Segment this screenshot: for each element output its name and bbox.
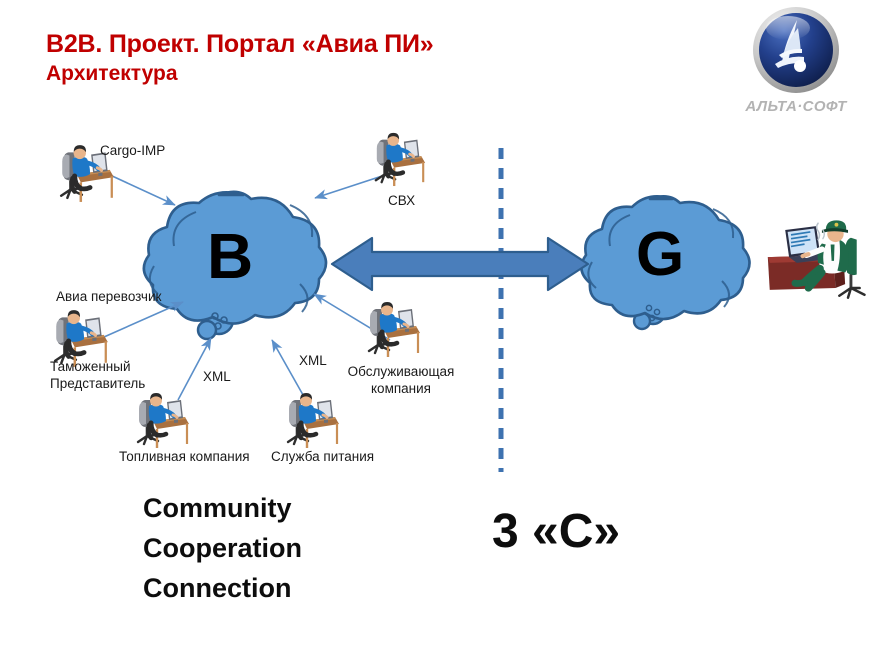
actor-customs-officer-icon bbox=[768, 220, 865, 297]
actor-sluzhba-icon bbox=[288, 393, 339, 448]
ccc-line-connection: Connection bbox=[143, 568, 302, 608]
label-obsluzh-line1: Обслуживающая bbox=[340, 363, 462, 380]
ccc-line-community: Community bbox=[143, 488, 302, 528]
label-xml-right: XML bbox=[299, 352, 327, 369]
double-headed-arrow bbox=[332, 238, 588, 290]
actor-toplivnaya-icon bbox=[138, 393, 189, 448]
label-cvh: СВХ bbox=[388, 192, 415, 209]
label-sluzhba-pitaniya: Служба питания bbox=[271, 448, 374, 465]
label-obsluzhivayushchaya-kompaniya: Обслуживающая компания bbox=[340, 363, 462, 397]
label-tamozhenny-predstavitel: Таможенный Представитель bbox=[50, 358, 145, 392]
arrow-sluzhba-to-b bbox=[272, 340, 307, 402]
actor-cvh-icon bbox=[376, 133, 425, 186]
label-tamozhenny-line2: Представитель bbox=[50, 375, 145, 392]
arrow-avia-to-b bbox=[104, 302, 183, 337]
cloud-b-label: B bbox=[207, 224, 253, 288]
slide-canvas: B2B. Проект. Портал «Авиа ПИ» Архитектур… bbox=[0, 0, 886, 664]
actor-obsluzh-icon bbox=[369, 302, 420, 357]
label-cargo-imp: Cargo-IMP bbox=[100, 142, 165, 159]
architecture-diagram bbox=[0, 0, 886, 664]
label-obsluzh-line2: компания bbox=[340, 380, 462, 397]
arrow-cvh-to-b bbox=[315, 176, 382, 198]
ccc-line-cooperation: Cooperation bbox=[143, 528, 302, 568]
label-toplivnaya-kompaniya: Топливная компания bbox=[119, 448, 250, 465]
arrow-cargo-imp-to-b bbox=[110, 175, 175, 205]
label-avia-perevozchik: Авиа перевозчик bbox=[56, 288, 161, 305]
cloud-g-label: G bbox=[636, 224, 684, 286]
ccc-principles-block: Community Cooperation Connection bbox=[143, 488, 302, 608]
label-tamozhenny-line1: Таможенный bbox=[50, 358, 145, 375]
label-xml-left: XML bbox=[203, 368, 231, 385]
three-c-label: 3 «С» bbox=[492, 505, 620, 559]
